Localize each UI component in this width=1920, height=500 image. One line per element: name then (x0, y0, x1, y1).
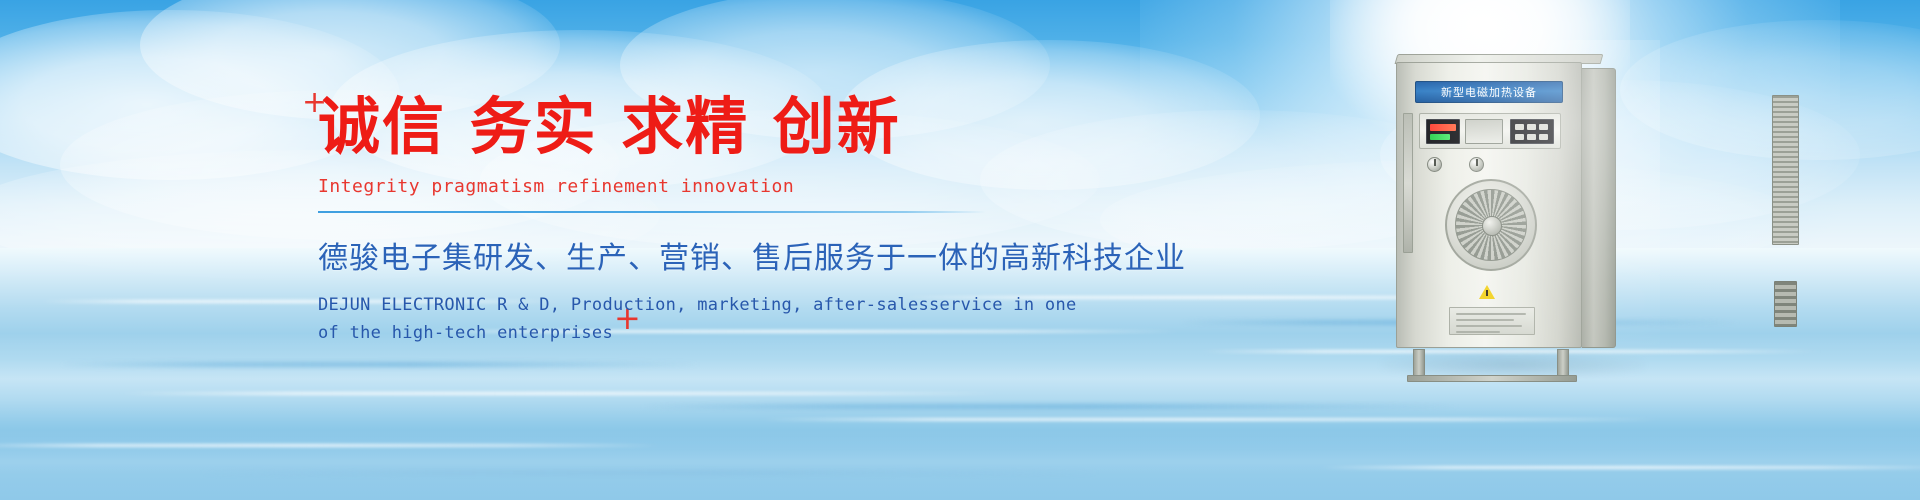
banner-subtitle-english-line1: DEJUN ELECTRONIC R & D, Production, mark… (318, 291, 1018, 319)
machine-gauge (1465, 119, 1503, 144)
machine-display-left (1426, 119, 1460, 144)
shore-glow (0, 430, 1920, 500)
keypad-key (1539, 124, 1548, 130)
display-led-green (1430, 134, 1450, 140)
keypad-key (1515, 124, 1524, 130)
machine-front-body: 新型电磁加热设备 (1396, 62, 1582, 348)
machine-knob-row (1425, 157, 1555, 173)
banner-headline: 诚信 务实 求精 创新 (318, 96, 1018, 158)
banner-headline-english: Integrity pragmatism refinement innovati… (318, 176, 1018, 197)
divider-line (318, 211, 986, 213)
wave-line (200, 470, 1100, 475)
machine-knob-right (1469, 157, 1484, 172)
banner-subtitle-english-line2: of the high-tech enterprises (318, 319, 1018, 347)
water-streak (120, 392, 1000, 395)
fan-blades (1455, 189, 1527, 261)
water-streak (1320, 466, 1920, 469)
machine-keypad (1510, 119, 1554, 144)
machine-vent-grille-lower (1774, 281, 1797, 327)
machine-label-text: 新型电磁加热设备 (1441, 84, 1537, 100)
machine-knob-left (1427, 157, 1442, 172)
fan-hub (1482, 216, 1502, 236)
banner-subtitle-chinese: 德骏电子集研发、生产、营销、售后服务于一体的高新科技企业 (318, 233, 1018, 277)
banner-subtitle-english: DEJUN ELECTRONIC R & D, Production, mark… (318, 291, 1018, 347)
machine-label-plate: 新型电磁加热设备 (1415, 81, 1563, 103)
water-streak (0, 444, 660, 447)
keypad-key (1527, 124, 1536, 130)
keypad-key (1539, 134, 1548, 140)
machine-foot-bar (1407, 375, 1577, 382)
machine-side-strip (1403, 113, 1413, 253)
machine-side-panel (1582, 68, 1616, 348)
machine-fan (1445, 179, 1537, 271)
banner-text-block: 诚信 务实 求精 创新 Integrity pragmatism refinem… (318, 96, 1018, 347)
keypad-key (1515, 134, 1524, 140)
keypad-key (1527, 134, 1536, 140)
water-streak (760, 418, 1660, 421)
promo-banner: + + 诚信 务实 求精 创新 Integrity pragmatism ref… (0, 0, 1920, 500)
machine-vent-grille (1772, 95, 1799, 245)
machine-control-panel (1419, 113, 1561, 149)
cloud-shape (1620, 20, 1920, 160)
machine-nameplate (1449, 307, 1535, 335)
display-led-red (1430, 124, 1456, 131)
warning-triangle-icon (1479, 285, 1495, 299)
wave-line (640, 404, 1460, 409)
product-machine-image: 新型电磁加热设备 (1396, 62, 1620, 362)
wave-line (60, 362, 700, 367)
